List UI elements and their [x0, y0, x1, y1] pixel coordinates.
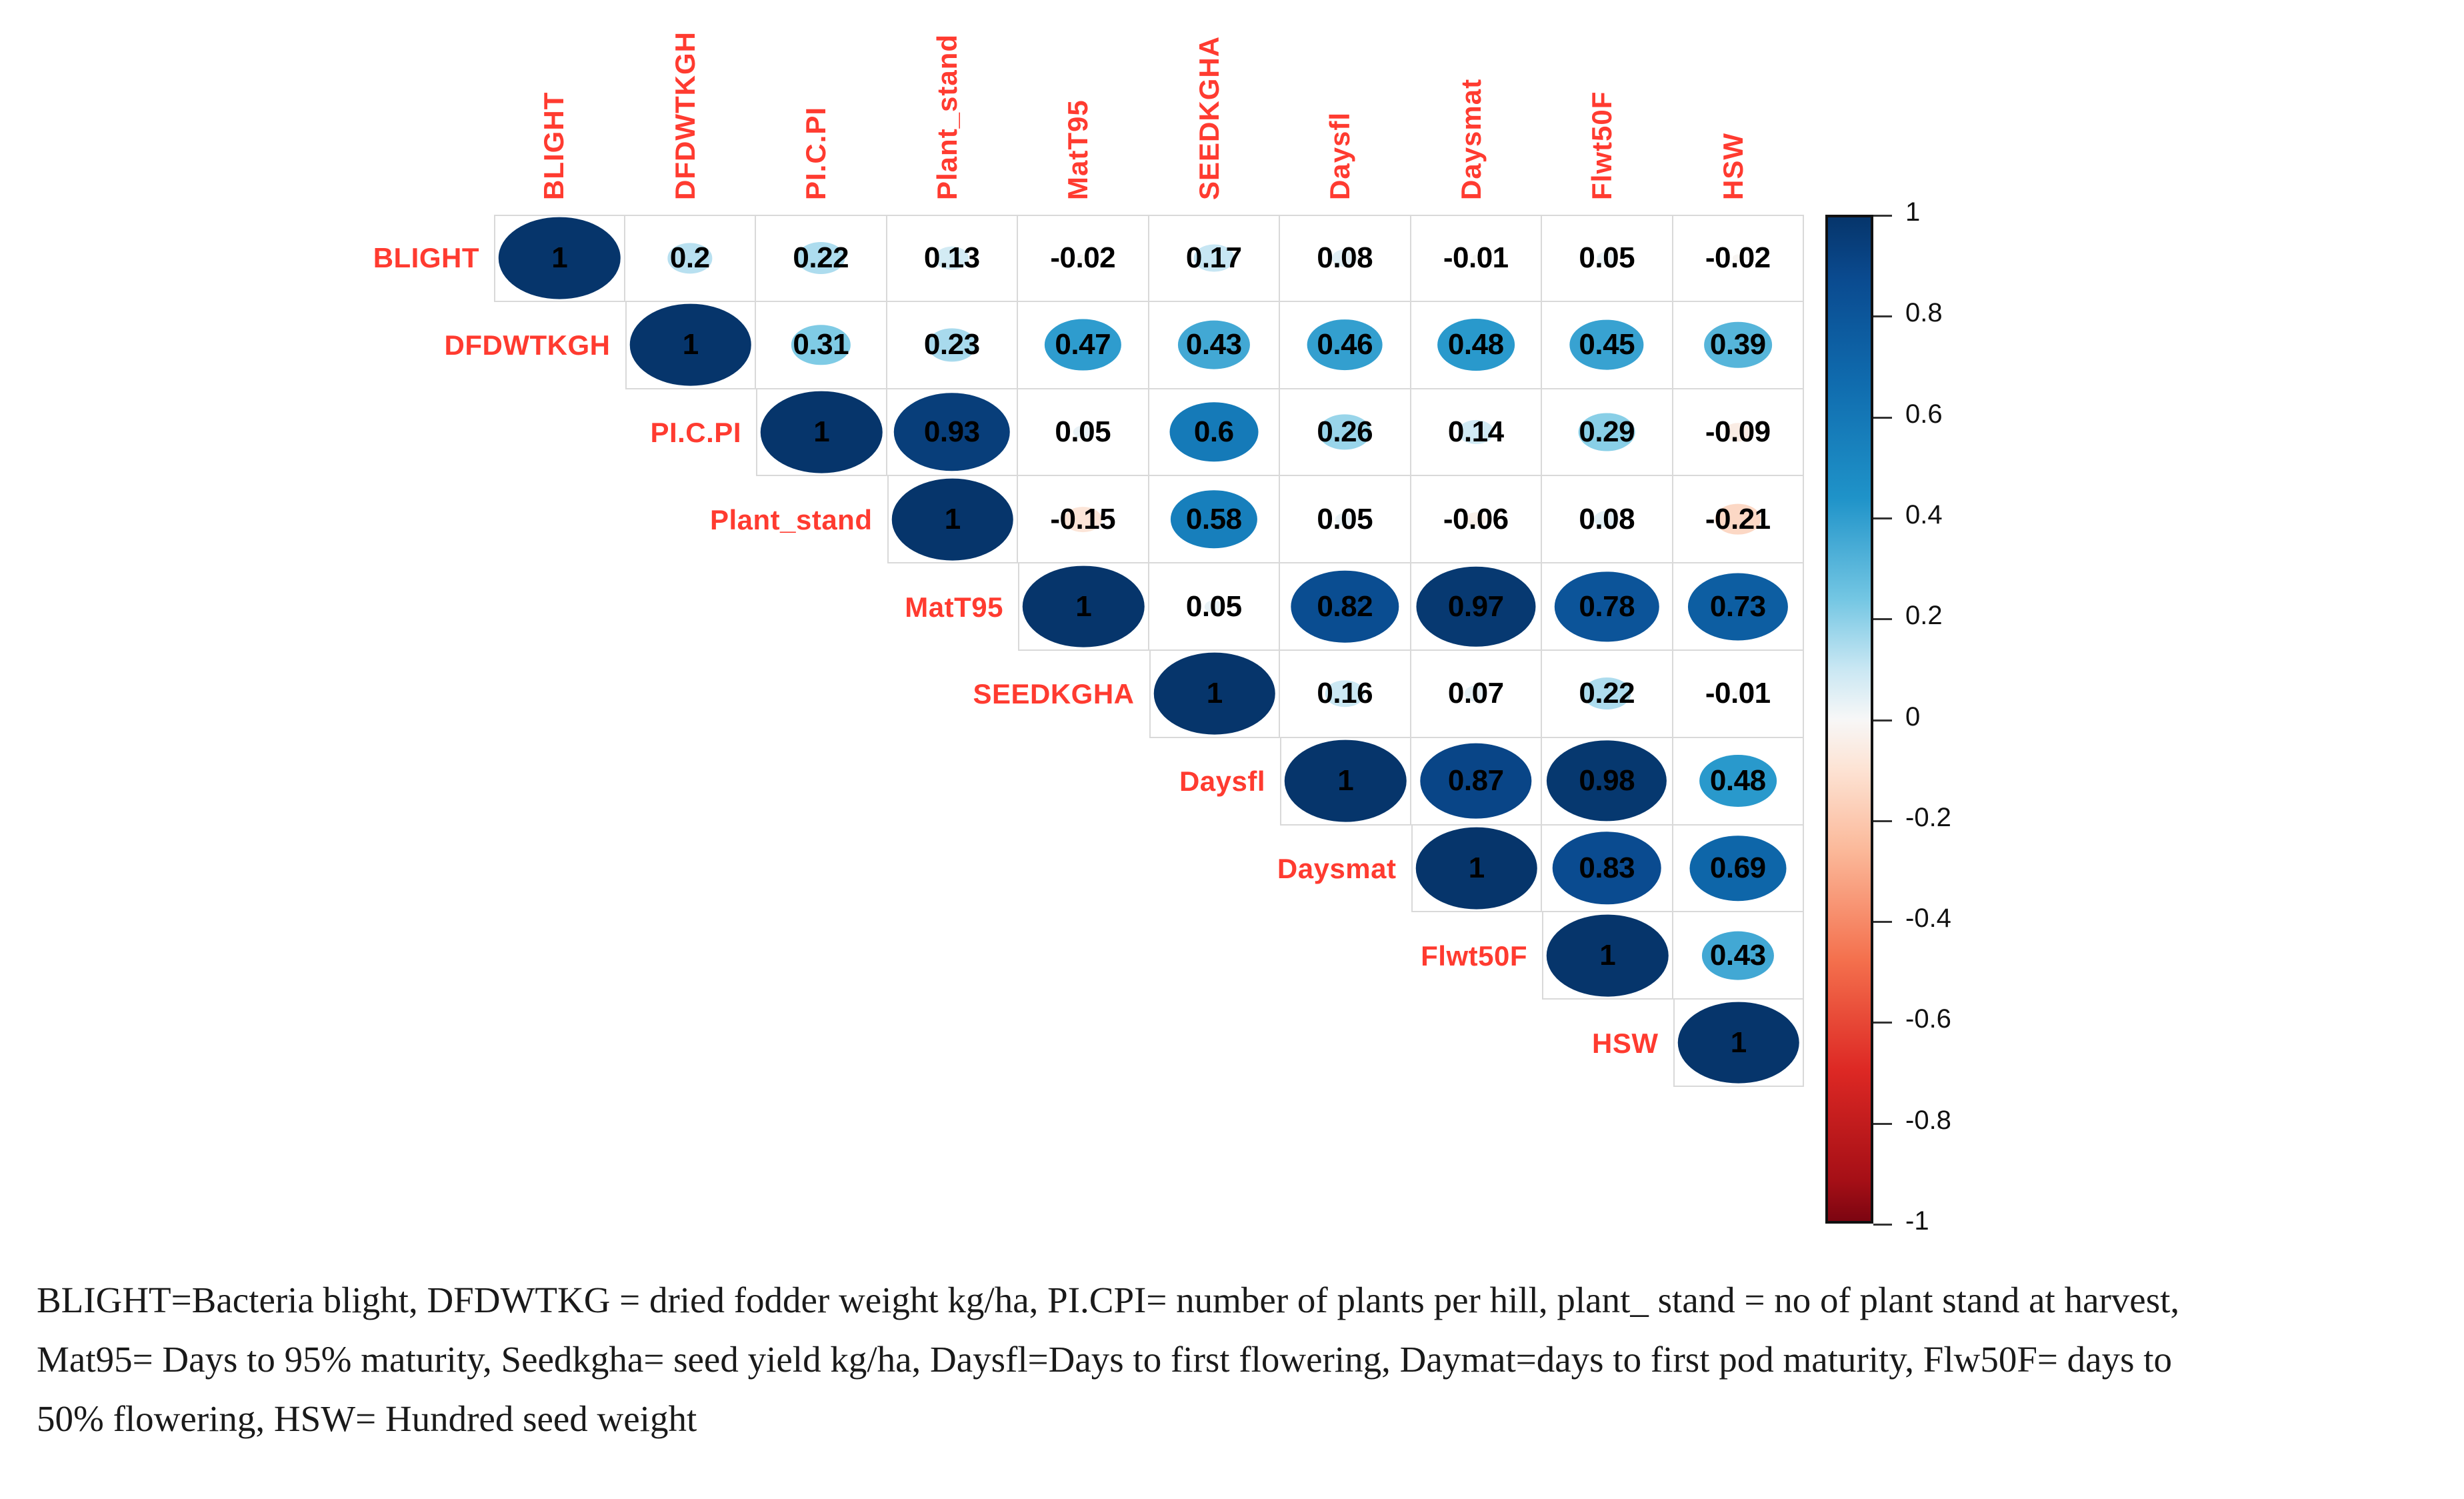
matrix-cell: 0.07: [1411, 651, 1543, 738]
matrix-cell: 1: [494, 215, 625, 302]
colorbar-tick-label: 1: [1905, 197, 1920, 227]
correlation-value: -0.09: [1673, 389, 1803, 475]
correlation-value: -0.01: [1673, 651, 1803, 737]
matrix-cell: 0.39: [1673, 302, 1805, 389]
colorbar-tick-label: 0: [1905, 702, 1920, 732]
correlation-value: 0.6: [1149, 389, 1279, 475]
matrix-cell: 0.48: [1673, 738, 1805, 826]
colorbar-tick-label: -0.2: [1905, 803, 1951, 833]
matrix-cell: 0.93: [887, 389, 1019, 477]
matrix-cell: 0.6: [1149, 389, 1281, 477]
colorbar-tick: [1873, 417, 1892, 419]
correlation-value: 0.47: [1018, 302, 1148, 388]
correlation-value: 0.14: [1411, 389, 1541, 475]
matrix-cell: 0.14: [1411, 389, 1543, 477]
correlation-value: 1: [1281, 738, 1410, 824]
matrix-cell: -0.01: [1411, 215, 1543, 302]
correlation-value: -0.21: [1673, 476, 1803, 562]
correlation-value: 1: [889, 476, 1017, 562]
column-label-dfdwtkgh: DFDWTKGH: [669, 31, 701, 200]
correlation-value: -0.01: [1411, 216, 1541, 301]
matrix-cell: 0.83: [1542, 826, 1673, 913]
correlation-value: -0.02: [1673, 216, 1803, 301]
column-label-plant-stand: Plant_stand: [931, 34, 963, 200]
row-label-hsw: HSW: [1232, 1000, 1659, 1087]
colorbar-tick: [1873, 1224, 1892, 1226]
matrix-cell: -0.09: [1673, 389, 1805, 477]
correlation-value: 0.83: [1542, 826, 1672, 912]
row-label-daysfl: Daysfl: [839, 738, 1265, 826]
matrix-cell: 0.97: [1411, 563, 1543, 651]
correlation-value: 0.08: [1542, 476, 1672, 562]
colorbar-tick: [1873, 315, 1892, 317]
matrix-cell: 0.29: [1542, 389, 1673, 477]
correlation-value: 0.2: [625, 216, 755, 301]
colorbar-tick-label: -1: [1905, 1206, 1929, 1236]
correlation-value: 0.58: [1149, 476, 1279, 562]
matrix-cell: 0.48: [1411, 302, 1543, 389]
matrix-cell: 1: [1673, 1000, 1805, 1087]
colorbar-tick: [1873, 1123, 1892, 1125]
matrix-cell: -0.02: [1018, 215, 1149, 302]
matrix-cell: -0.21: [1673, 476, 1805, 563]
column-label-daysmat: Daysmat: [1455, 79, 1487, 200]
row-label-blight: BLIGHT: [53, 215, 479, 302]
matrix-cell: 0.31: [756, 302, 887, 389]
row-label-flwt50f: Flwt50F: [1101, 912, 1527, 1000]
colorbar-tick-label: -0.6: [1905, 1004, 1951, 1034]
correlation-value: 0.98: [1542, 738, 1672, 824]
colorbar-tick-label: -0.4: [1905, 904, 1951, 934]
correlation-value: 0.78: [1542, 563, 1672, 649]
matrix-cell: -0.01: [1673, 651, 1805, 738]
matrix-cell: 1: [1018, 563, 1149, 651]
caption-line-2: Mat95= Days to 95% maturity, Seedkgha= s…: [37, 1330, 2437, 1389]
colorbar-tick: [1873, 719, 1892, 721]
column-label-hsw: HSW: [1717, 133, 1749, 200]
row-label-pi-c-pi: PI.C.PI: [315, 389, 741, 477]
matrix-cell: 0.73: [1673, 563, 1805, 651]
matrix-cell: 0.43: [1149, 302, 1281, 389]
correlation-value: 0.23: [887, 302, 1017, 388]
correlation-value: 1: [1019, 563, 1148, 649]
matrix-cell: 0.87: [1411, 738, 1543, 826]
colorbar-tick-label: 0.8: [1905, 298, 1943, 328]
matrix-cell: 0.2: [625, 215, 757, 302]
correlation-value: 0.43: [1673, 912, 1803, 998]
correlation-value: 0.26: [1280, 389, 1410, 475]
correlation-value: 1: [1675, 1000, 1803, 1086]
matrix-cell: 1: [1542, 912, 1673, 1000]
correlation-value: 0.45: [1542, 302, 1672, 388]
correlation-value: 0.82: [1280, 563, 1410, 649]
row-label-dfdwtkgh: DFDWTKGH: [184, 302, 611, 389]
colorbar-tick: [1873, 1022, 1892, 1024]
matrix-cell: 0.16: [1280, 651, 1411, 738]
matrix-cell: 0.13: [887, 215, 1019, 302]
matrix-cell: 0.58: [1149, 476, 1281, 563]
column-label-seedkgha: SEEDKGHA: [1193, 36, 1225, 200]
correlation-value: -0.06: [1411, 476, 1541, 562]
matrix-cell: 0.05: [1542, 215, 1673, 302]
correlation-value: 0.87: [1411, 738, 1541, 824]
correlation-value: 0.05: [1542, 216, 1672, 301]
correlation-value: 0.48: [1411, 302, 1541, 388]
matrix-cell: 0.05: [1280, 476, 1411, 563]
caption-line-1: BLIGHT=Bacteria blight, DFDWTKG = dried …: [37, 1270, 2437, 1330]
matrix-cell: 0.82: [1280, 563, 1411, 651]
correlation-value: 1: [757, 389, 886, 475]
correlation-value: 0.73: [1673, 563, 1803, 649]
correlation-value: 0.93: [887, 389, 1017, 475]
matrix-cell: 0.22: [1542, 651, 1673, 738]
correlation-value: 0.46: [1280, 302, 1410, 388]
colorbar-tick: [1873, 618, 1892, 620]
matrix-cell: 0.45: [1542, 302, 1673, 389]
colorbar-gradient: [1825, 215, 1873, 1224]
matrix-cell: 1: [625, 302, 757, 389]
correlation-value: 1: [495, 216, 624, 301]
correlation-value: 0.07: [1411, 651, 1541, 737]
correlation-value: 0.05: [1280, 476, 1410, 562]
correlation-value: 0.05: [1149, 563, 1279, 649]
correlation-value: 0.97: [1411, 563, 1541, 649]
matrix-cell: 0.22: [756, 215, 887, 302]
matrix-cell: 0.08: [1542, 476, 1673, 563]
column-label-pi-c-pi: PI.C.PI: [800, 107, 832, 200]
correlation-value: -0.15: [1018, 476, 1148, 562]
matrix-cell: 0.08: [1280, 215, 1411, 302]
colorbar-tick-label: -0.8: [1905, 1106, 1951, 1136]
correlation-value: -0.02: [1018, 216, 1148, 301]
matrix-cell: 0.98: [1542, 738, 1673, 826]
correlation-value: 1: [1413, 826, 1541, 912]
colorbar-tick-label: 0.4: [1905, 500, 1943, 530]
correlation-value: 1: [627, 302, 755, 388]
colorbar-tick-label: 0.2: [1905, 601, 1943, 631]
correlation-value: 0.48: [1673, 738, 1803, 824]
colorbar-tick: [1873, 215, 1892, 217]
correlation-value: 0.22: [756, 216, 886, 301]
row-label-plant-stand: Plant_stand: [446, 476, 873, 563]
matrix-cell: 0.78: [1542, 563, 1673, 651]
colorbar-tick: [1873, 517, 1892, 519]
column-label-matt95: MatT95: [1062, 99, 1094, 200]
matrix-cell: -0.15: [1018, 476, 1149, 563]
correlation-value: 0.22: [1542, 651, 1672, 737]
matrix-cell: -0.06: [1411, 476, 1543, 563]
correlation-value: 0.43: [1149, 302, 1279, 388]
matrix-cell: 0.46: [1280, 302, 1411, 389]
row-label-seedkgha: SEEDKGHA: [708, 651, 1135, 738]
column-label-daysfl: Daysfl: [1324, 112, 1356, 200]
caption-line-3: 50% flowering, HSW= Hundred seed weight: [37, 1389, 2437, 1448]
correlation-value: 0.13: [887, 216, 1017, 301]
matrix-cell: 0.26: [1280, 389, 1411, 477]
column-label-flwt50f: Flwt50F: [1586, 91, 1618, 200]
correlation-value: 0.31: [756, 302, 886, 388]
matrix-cell: 1: [1411, 826, 1543, 913]
correlation-value: 0.69: [1673, 826, 1803, 912]
matrix-cell: -0.02: [1673, 215, 1805, 302]
matrix-cell: 1: [887, 476, 1019, 563]
matrix-cell: 0.05: [1149, 563, 1281, 651]
matrix-cell: 0.69: [1673, 826, 1805, 913]
matrix-cell: 0.47: [1018, 302, 1149, 389]
correlation-matrix-figure: BLIGHTDFDWTKGHPI.C.PIPlant_standMatT95SE…: [0, 0, 2464, 1247]
colorbar: 10.80.60.40.20-0.2-0.4-0.6-0.8-1: [1825, 215, 1873, 1224]
row-label-daysmat: Daysmat: [970, 826, 1397, 913]
colorbar-tick: [1873, 820, 1892, 822]
matrix-cell: 1: [1280, 738, 1411, 826]
correlation-value: 0.16: [1280, 651, 1410, 737]
matrix-cell: 0.23: [887, 302, 1019, 389]
matrix-cell: 0.05: [1018, 389, 1149, 477]
row-label-matt95: MatT95: [577, 563, 1003, 651]
matrix-cell: 1: [1149, 651, 1281, 738]
correlation-value: 0.08: [1280, 216, 1410, 301]
correlation-value: 0.05: [1018, 389, 1148, 475]
correlation-value: 1: [1543, 912, 1672, 998]
figure-caption: BLIGHT=Bacteria blight, DFDWTKG = dried …: [37, 1270, 2437, 1448]
matrix-cell: 1: [756, 389, 887, 477]
correlation-value: 0.39: [1673, 302, 1803, 388]
colorbar-tick: [1873, 921, 1892, 923]
correlation-value: 1: [1151, 651, 1279, 737]
correlation-value: 0.17: [1149, 216, 1279, 301]
matrix-cell: 0.17: [1149, 215, 1281, 302]
correlation-value: 0.29: [1542, 389, 1672, 475]
column-label-blight: BLIGHT: [538, 92, 570, 200]
colorbar-tick-label: 0.6: [1905, 399, 1943, 429]
matrix-cell: 0.43: [1673, 912, 1805, 1000]
